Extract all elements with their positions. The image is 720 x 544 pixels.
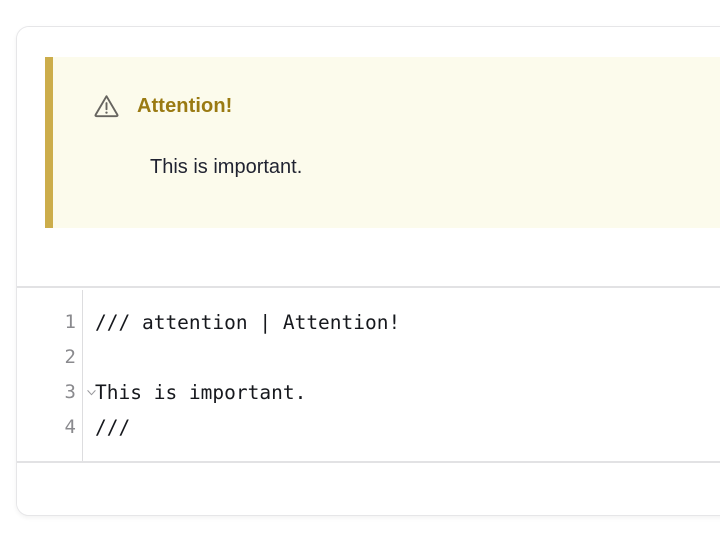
callout-title: Attention! — [137, 95, 232, 118]
markdown-preview-card: Attention! This is important. 1 2 3 4 — [16, 26, 720, 516]
gutter-row[interactable]: 2 — [17, 340, 82, 375]
line-number: 1 — [65, 313, 76, 332]
warning-triangle-icon — [93, 93, 120, 119]
code-line[interactable] — [95, 340, 720, 375]
gutter-row[interactable]: 1 — [17, 305, 82, 340]
chevron-down-icon[interactable] — [86, 387, 97, 398]
editor-code-area[interactable]: /// attention | Attention! This is impor… — [83, 290, 720, 461]
gutter-row[interactable]: 4 — [17, 410, 82, 445]
preview-pane: Attention! This is important. — [17, 27, 720, 288]
code-editor[interactable]: 1 2 3 4 /// attention | Attention! This … — [17, 290, 720, 463]
code-line[interactable]: /// attention | Attention! — [95, 305, 720, 340]
card-footer — [17, 465, 720, 515]
code-line[interactable]: This is important. — [95, 375, 720, 410]
gutter-row[interactable]: 3 — [17, 375, 82, 410]
line-number: 4 — [65, 418, 76, 437]
callout-title-row: Attention! — [93, 93, 232, 119]
callout-accent-bar — [45, 57, 53, 228]
line-number: 3 — [65, 383, 76, 402]
line-number: 2 — [65, 348, 76, 367]
callout-body: Attention! This is important. — [53, 57, 720, 228]
attention-callout: Attention! This is important. — [45, 57, 720, 228]
code-line[interactable]: /// — [95, 410, 720, 445]
editor-gutter: 1 2 3 4 — [17, 290, 83, 461]
callout-text: This is important. — [150, 156, 302, 179]
